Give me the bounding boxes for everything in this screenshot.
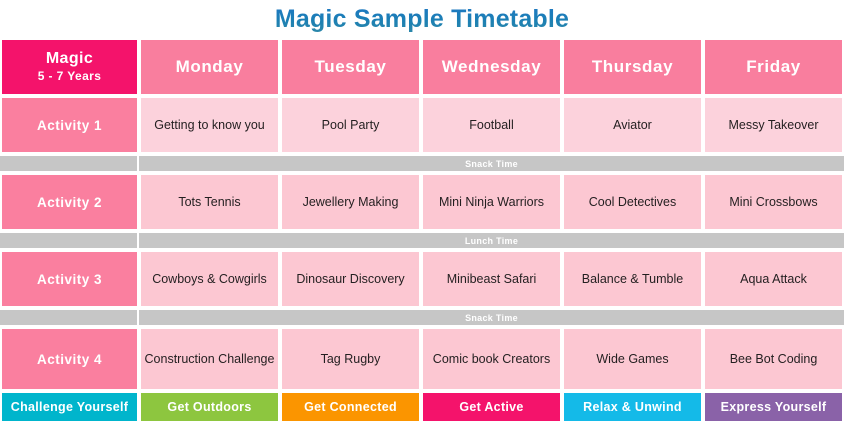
break-label-snack-time-1: Snack Time — [139, 154, 844, 173]
table-row-activity-3: Activity 3 Cowboys & Cowgirls Dinosaur D… — [0, 250, 844, 308]
category-challenge-yourself: Challenge Yourself — [0, 391, 139, 423]
cell-activity-4-monday: Construction Challenge — [139, 327, 280, 391]
row-label-activity-2: Activity 2 — [0, 173, 139, 231]
header-magic-age: 5 - 7 Years — [2, 70, 137, 84]
cell-activity-3-friday: Aqua Attack — [703, 250, 844, 308]
category-get-active: Get Active — [421, 391, 562, 423]
header-cell-monday: Monday — [139, 38, 280, 96]
table-row-snack-time-2: Snack Time — [0, 308, 844, 327]
cell-activity-4-tuesday: Tag Rugby — [280, 327, 421, 391]
cell-activity-2-tuesday: Jewellery Making — [280, 173, 421, 231]
cell-activity-4-thursday: Wide Games — [562, 327, 703, 391]
row-label-activity-3: Activity 3 — [0, 250, 139, 308]
header-cell-wednesday: Wednesday — [421, 38, 562, 96]
row-label-activity-1: Activity 1 — [0, 96, 139, 154]
table-row-activity-1: Activity 1 Getting to know you Pool Part… — [0, 96, 844, 154]
header-cell-magic: Magic 5 - 7 Years — [0, 38, 139, 96]
table-row-activity-2: Activity 2 Tots Tennis Jewellery Making … — [0, 173, 844, 231]
table-row-activity-4: Activity 4 Construction Challenge Tag Ru… — [0, 327, 844, 391]
row-label-activity-4: Activity 4 — [0, 327, 139, 391]
header-cell-friday: Friday — [703, 38, 844, 96]
cell-activity-3-tuesday: Dinosaur Discovery — [280, 250, 421, 308]
header-cell-thursday: Thursday — [562, 38, 703, 96]
category-relax-unwind: Relax & Unwind — [562, 391, 703, 423]
cell-activity-3-thursday: Balance & Tumble — [562, 250, 703, 308]
timetable: Magic 5 - 7 Years Monday Tuesday Wednesd… — [0, 38, 844, 423]
cell-activity-4-wednesday: Comic book Creators — [421, 327, 562, 391]
cell-activity-3-monday: Cowboys & Cowgirls — [139, 250, 280, 308]
page-title-bar: Magic Sample Timetable — [0, 0, 844, 38]
category-express-yourself: Express Yourself — [703, 391, 844, 423]
cell-activity-1-monday: Getting to know you — [139, 96, 280, 154]
cell-activity-2-wednesday: Mini Ninja Warriors — [421, 173, 562, 231]
cell-activity-1-tuesday: Pool Party — [280, 96, 421, 154]
timetable-page: Magic Sample Timetable Magic 5 - 7 Years… — [0, 0, 844, 434]
header-cell-tuesday: Tuesday — [280, 38, 421, 96]
header-magic-title: Magic — [2, 50, 137, 68]
category-get-outdoors: Get Outdoors — [139, 391, 280, 423]
cell-activity-2-monday: Tots Tennis — [139, 173, 280, 231]
break-spacer-snack-2 — [0, 308, 139, 327]
cell-activity-2-friday: Mini Crossbows — [703, 173, 844, 231]
timetable-header-row: Magic 5 - 7 Years Monday Tuesday Wednesd… — [0, 38, 844, 96]
cell-activity-1-friday: Messy Takeover — [703, 96, 844, 154]
cell-activity-4-friday: Bee Bot Coding — [703, 327, 844, 391]
cell-activity-1-wednesday: Football — [421, 96, 562, 154]
table-row-snack-time-1: Snack Time — [0, 154, 844, 173]
break-spacer-snack-1 — [0, 154, 139, 173]
cell-activity-3-wednesday: Minibeast Safari — [421, 250, 562, 308]
break-label-lunch-time: Lunch Time — [139, 231, 844, 250]
category-get-connected: Get Connected — [280, 391, 421, 423]
break-label-snack-time-2: Snack Time — [139, 308, 844, 327]
page-title: Magic Sample Timetable — [275, 5, 569, 34]
cell-activity-2-thursday: Cool Detectives — [562, 173, 703, 231]
table-row-lunch-time: Lunch Time — [0, 231, 844, 250]
break-spacer-lunch — [0, 231, 139, 250]
cell-activity-1-thursday: Aviator — [562, 96, 703, 154]
table-row-categories: Challenge Yourself Get Outdoors Get Conn… — [0, 391, 844, 423]
